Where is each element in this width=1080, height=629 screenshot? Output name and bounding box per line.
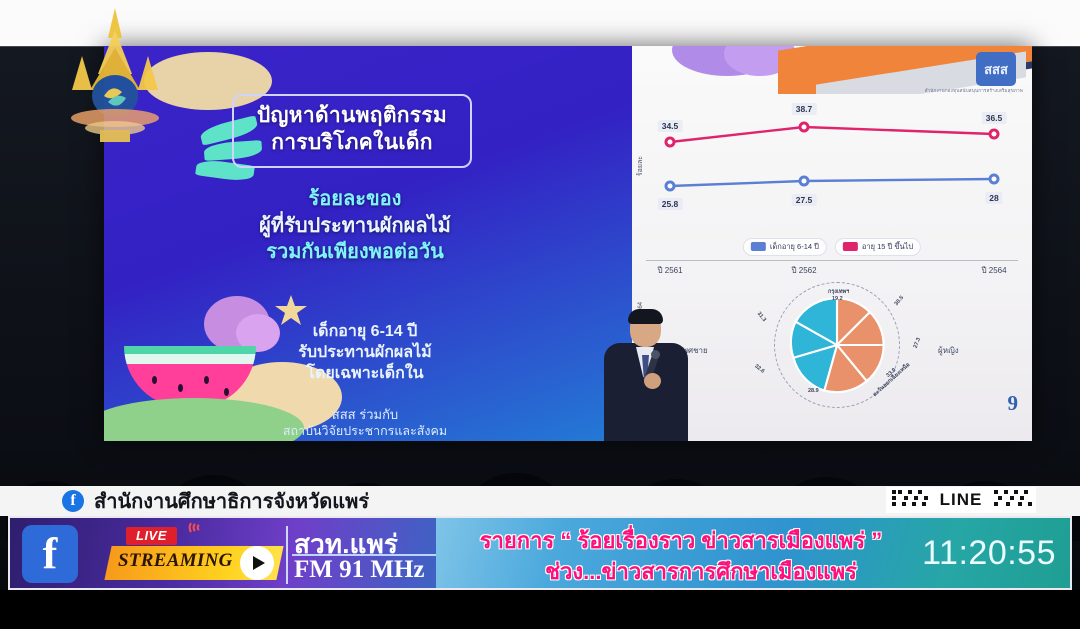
- legend-label-adults: อายุ 15 ปี ขึ้นไป: [862, 241, 913, 253]
- chart-legend: เด็กอายุ 6-14 ปี อายุ 15 ปี ขึ้นไป: [743, 238, 921, 256]
- live-badge: LIVE: [126, 527, 177, 545]
- facebook-icon[interactable]: f: [62, 490, 84, 512]
- x-tick-2562: ปี 2562: [791, 264, 816, 277]
- data-label-pink-2561: 34.5: [658, 120, 683, 132]
- data-label-pink-2564: 36.5: [982, 112, 1007, 124]
- line-chart: 34.5 38.7 36.5 25.8 27.5 28: [646, 98, 1018, 230]
- slide-body-line1: เด็กอายุ 6-14 ปี: [220, 321, 510, 342]
- station-frequency: FM 91 MHz: [294, 556, 425, 584]
- sss-logo-badge: สสส: [976, 52, 1016, 86]
- legend-item-children: เด็กอายุ 6-14 ปี: [743, 238, 827, 256]
- legend-item-adults: อายุ 15 ปี ขึ้นไป: [835, 238, 921, 256]
- line-chart-svg: [646, 98, 1018, 230]
- slide-title-line2: การบริโภคในเด็ก: [244, 130, 460, 157]
- x-tick-2561: ปี 2561: [657, 264, 682, 277]
- lower-third-banner: f LIVE STREAMING สวท.แพร่ FM 91 MHz รายก…: [0, 516, 1080, 590]
- projection-screen: ปัญหาด้านพฤติกรรม การบริโภคในเด็ก ร้อยละ…: [104, 46, 1032, 441]
- facebook-logo-icon[interactable]: f: [22, 525, 78, 583]
- slide-body-line3: โดยเฉพาะเด็กใน: [220, 363, 510, 384]
- broadcast-waves-icon: [188, 520, 206, 534]
- presenter-hand: [644, 373, 661, 389]
- pie-chart-svg: [784, 292, 890, 398]
- broadcast-frame: ปัญหาด้านพฤติกรรม การบริโภคในเด็ก ร้อยละ…: [0, 0, 1080, 629]
- play-triangle-icon: [253, 556, 265, 570]
- station-branding-panel: f LIVE STREAMING สวท.แพร่ FM 91 MHz: [8, 516, 438, 590]
- slide-title-line1: ปัญหาด้านพฤติกรรม: [244, 103, 460, 130]
- data-label-pink-2562: 38.7: [792, 103, 817, 115]
- data-label-blue-2561: 25.8: [658, 198, 683, 210]
- line-qr-code[interactable]: LINE: [886, 487, 1036, 513]
- data-point-pink: [665, 137, 676, 148]
- pie-label-female: ผู้หญิง: [938, 344, 959, 357]
- data-label-blue-2564: 28: [985, 192, 1002, 204]
- sss-logo-text: สสส: [984, 59, 1008, 80]
- program-title: รายการ “ ร้อยเรื่องราว ข่าวสารเมืองแพร่ …: [446, 523, 916, 558]
- data-point-pink: [989, 129, 1000, 140]
- letterbox-bottom: [0, 590, 1080, 629]
- panel-divider: [286, 526, 288, 584]
- slide-subtitle-line3: รวมกันเพียงพอต่อวัน: [190, 239, 520, 266]
- pie-value-central: 30.5: [894, 295, 905, 307]
- legend-label-children: เด็กอายุ 6-14 ปี: [770, 241, 819, 253]
- pie-value-north-b: 32.6: [753, 363, 765, 374]
- slide-subtitle-line1: ร้อยละของ: [190, 186, 520, 213]
- data-point-pink: [799, 122, 810, 133]
- slide-body-line2: รับประทานผักผลไม้: [220, 342, 510, 363]
- slide-title-box: ปัญหาด้านพฤติกรรม การบริโภคในเด็ก: [232, 94, 472, 168]
- pie-value-south: 27.3: [913, 337, 922, 349]
- chart-x-axis: ปี 2561 ปี 2562 ปี 2564: [646, 260, 1018, 261]
- program-segment: ช่วง...ข่าวสารการศึกษาเมืองแพร่: [466, 554, 936, 589]
- pie-value-bangkok: 19.2: [832, 296, 843, 302]
- legend-swatch-blue: [751, 242, 766, 251]
- data-point-blue: [665, 181, 676, 192]
- pie-value-north-c: 31.3: [756, 311, 767, 323]
- data-label-blue-2562: 27.5: [792, 194, 817, 206]
- pie-label-bangkok: กรุงเทพฯ: [828, 288, 849, 296]
- ticker-headline: สำนักงานศึกษาธิการจังหวัดแพร่: [94, 486, 369, 516]
- data-point-blue: [799, 176, 810, 187]
- legend-swatch-pink: [843, 242, 858, 251]
- line-label: LINE: [937, 490, 986, 510]
- clock-display: 11:20:55: [922, 534, 1056, 573]
- x-tick-2564: ปี 2564: [981, 264, 1006, 277]
- pie-value-north-a: 28.9: [808, 388, 819, 394]
- facebook-logo-letter: f: [43, 532, 58, 576]
- chart-y-axis-label: ร้อยละ: [635, 156, 646, 176]
- microphone-head-icon: [651, 350, 660, 359]
- slide-subtitle-line2: ผู้ที่รับประทานผักผลไม้: [190, 213, 520, 240]
- presenter-hair: [628, 309, 663, 324]
- news-ticker: f สำนักงานศึกษาธิการจังหวัดแพร่ LINE: [0, 486, 1080, 516]
- royal-emblem-watermark: [62, 4, 168, 152]
- program-info-panel: รายการ “ ร้อยเรื่องราว ข่าวสารเมืองแพร่ …: [436, 516, 1072, 590]
- slide-page-number: 9: [1008, 391, 1019, 416]
- slide-subtitle: ร้อยละของ ผู้ที่รับประทานผักผลไม้ รวมกัน…: [190, 186, 520, 266]
- play-button[interactable]: [240, 546, 274, 580]
- data-point-blue: [989, 174, 1000, 185]
- sss-logo-caption: สำนักงานกองทุนสนับสนุนการสร้างเสริมสุขภา…: [925, 87, 1023, 94]
